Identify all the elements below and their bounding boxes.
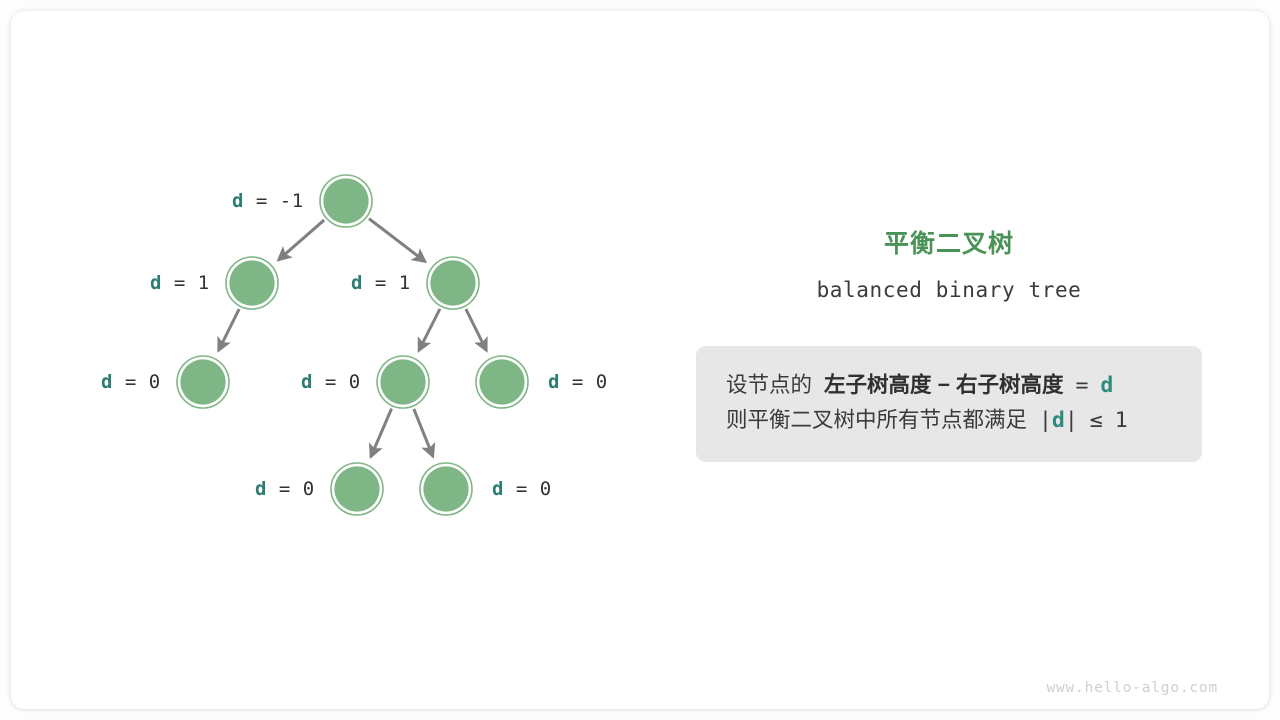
balance-factor-value: = 1 — [363, 272, 411, 294]
tree-node[interactable] — [479, 359, 524, 404]
tree-edge — [219, 309, 240, 351]
tree-node[interactable] — [423, 466, 468, 511]
tree-edge — [414, 409, 433, 457]
tree-edge — [369, 219, 425, 262]
tree-node[interactable] — [334, 466, 379, 511]
balance-factor-label: d = 0 — [492, 478, 552, 500]
definition-line-1: 设节点的 左子树高度 − 右子树高度 = d — [726, 368, 1172, 403]
abs-bar-open: | — [1039, 408, 1052, 433]
balance-factor-value: = 0 — [113, 371, 161, 393]
tree-edge — [419, 309, 440, 351]
tree-node[interactable] — [380, 359, 425, 404]
balance-factor-label: d = 1 — [150, 272, 210, 294]
tree-edges — [219, 219, 487, 457]
tree-node[interactable] — [323, 178, 368, 223]
balance-factor-value: = 0 — [313, 371, 361, 393]
definition-line-2: 则平衡二叉树中所有节点都满足 |d| ≤ 1 — [726, 403, 1172, 438]
balance-factor-value: = 0 — [560, 371, 608, 393]
tree-edge — [466, 309, 487, 351]
balance-factor-symbol: d — [150, 272, 162, 294]
tree-edge — [278, 220, 324, 260]
balance-factor-symbol: d — [301, 371, 313, 393]
balance-factor-value: = 0 — [267, 478, 315, 500]
d-symbol-abs: d — [1052, 408, 1065, 433]
panel-subtitle: balanced binary tree — [696, 278, 1202, 302]
balance-factor-label: d = 1 — [351, 272, 411, 294]
balance-factor-symbol: d — [232, 190, 244, 212]
tree-node[interactable] — [430, 260, 475, 305]
d-symbol: d — [1100, 373, 1113, 398]
balance-factor-value: = 0 — [504, 478, 552, 500]
abs-bar-close: | — [1065, 408, 1078, 433]
balance-factor-value: = -1 — [244, 190, 304, 212]
constraint-value: 1 — [1115, 408, 1128, 433]
definition-box: 设节点的 左子树高度 − 右子树高度 = d 则平衡二叉树中所有节点都满足 |d… — [696, 346, 1202, 462]
legend-panel: 平衡二叉树 balanced binary tree 设节点的 左子树高度 − … — [696, 224, 1202, 462]
balance-factor-value: = 1 — [162, 272, 210, 294]
balance-factor-label: d = 0 — [548, 371, 608, 393]
tree-node[interactable] — [229, 260, 274, 305]
panel-title: 平衡二叉树 — [696, 224, 1202, 260]
definition-prefix: 设节点的 — [726, 373, 812, 397]
balance-factor-label: d = -1 — [232, 190, 304, 212]
minus-operator: − — [937, 373, 950, 397]
balance-factor-label: d = 0 — [255, 478, 315, 500]
equals-operator: = — [1075, 373, 1088, 398]
leq-operator: ≤ — [1090, 408, 1103, 433]
balance-factor-label: d = 0 — [101, 371, 161, 393]
left-subtree-height-term: 左子树高度 — [824, 373, 932, 397]
tree-nodes — [177, 175, 528, 515]
balance-factor-symbol: d — [101, 371, 113, 393]
watermark: www.hello-algo.com — [1046, 680, 1218, 696]
diagram-canvas: d = -1d = 1d = 1d = 0d = 0d = 0d = 0d = … — [0, 0, 1280, 720]
balance-factor-symbol: d — [351, 272, 363, 294]
tree-edge — [371, 409, 392, 457]
balance-factor-symbol: d — [492, 478, 504, 500]
balance-factor-symbol: d — [255, 478, 267, 500]
right-subtree-height-term: 右子树高度 — [956, 373, 1064, 397]
constraint-prefix: 则平衡二叉树中所有节点都满足 — [726, 408, 1027, 432]
balance-factor-label: d = 0 — [301, 371, 361, 393]
tree-node[interactable] — [180, 359, 225, 404]
balance-factor-symbol: d — [548, 371, 560, 393]
